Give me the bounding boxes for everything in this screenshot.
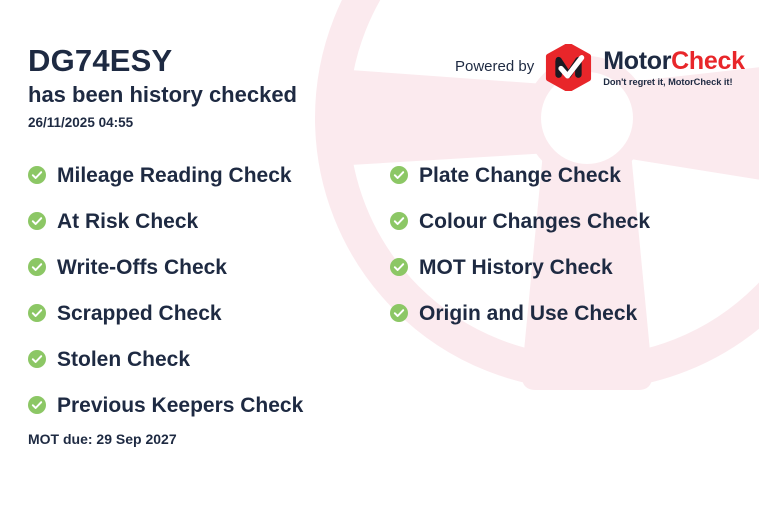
check-circle-icon — [28, 166, 46, 184]
check-circle-icon — [28, 304, 46, 322]
brand-name: MotorCheck — [603, 49, 744, 74]
check-item-label: Previous Keepers Check — [57, 395, 303, 416]
check-item-label: Plate Change Check — [419, 165, 621, 186]
check-item: MOT History Check — [390, 244, 650, 290]
check-item: Mileage Reading Check — [28, 152, 303, 198]
check-item: Colour Changes Check — [390, 198, 650, 244]
check-circle-icon — [28, 350, 46, 368]
brand-name-part2: Check — [671, 47, 745, 75]
check-item-label: Scrapped Check — [57, 303, 222, 324]
check-item-label: Mileage Reading Check — [57, 165, 292, 186]
check-item: Previous Keepers Check — [28, 382, 303, 428]
vehicle-registration-plate: DG74ESY — [28, 44, 297, 79]
brand-tagline: Don't regret it, MotorCheck it! — [603, 77, 744, 87]
powered-by-motorcheck: Powered by MotorCheck Don't regret it, M… — [455, 44, 745, 91]
check-circle-icon — [390, 166, 408, 184]
page-title: has been history checked — [28, 81, 297, 109]
check-item-label: MOT History Check — [419, 257, 613, 278]
check-circle-icon — [390, 304, 408, 322]
check-item: Stolen Check — [28, 336, 303, 382]
check-item-label: Write-Offs Check — [57, 257, 227, 278]
check-item: Write-Offs Check — [28, 244, 303, 290]
motorcheck-hexagon-logo-icon — [545, 44, 592, 91]
check-timestamp: 26/11/2025 04:55 — [28, 115, 297, 130]
check-circle-icon — [28, 258, 46, 276]
header: DG74ESY has been history checked 26/11/2… — [28, 44, 297, 130]
check-item: At Risk Check — [28, 198, 303, 244]
check-circle-icon — [28, 396, 46, 414]
check-circle-icon — [28, 212, 46, 230]
checks-column-right: Plate Change Check Colour Changes Check … — [390, 152, 650, 336]
vehicle-history-check-card: DG74ESY has been history checked 26/11/2… — [0, 0, 759, 506]
check-item-label: Stolen Check — [57, 349, 190, 370]
check-circle-icon — [390, 212, 408, 230]
check-item: Plate Change Check — [390, 152, 650, 198]
check-item-label: At Risk Check — [57, 211, 198, 232]
powered-by-label: Powered by — [455, 58, 534, 77]
brand-name-part1: Motor — [603, 47, 671, 75]
checks-column-left: Mileage Reading Check At Risk Check Writ… — [28, 152, 303, 428]
check-item: Scrapped Check — [28, 290, 303, 336]
motorcheck-wordmark: MotorCheck Don't regret it, MotorCheck i… — [603, 49, 744, 87]
check-item-label: Colour Changes Check — [419, 211, 650, 232]
mot-due-date: MOT due: 29 Sep 2027 — [28, 431, 177, 447]
check-item-label: Origin and Use Check — [419, 303, 637, 324]
check-item: Origin and Use Check — [390, 290, 650, 336]
check-circle-icon — [390, 258, 408, 276]
